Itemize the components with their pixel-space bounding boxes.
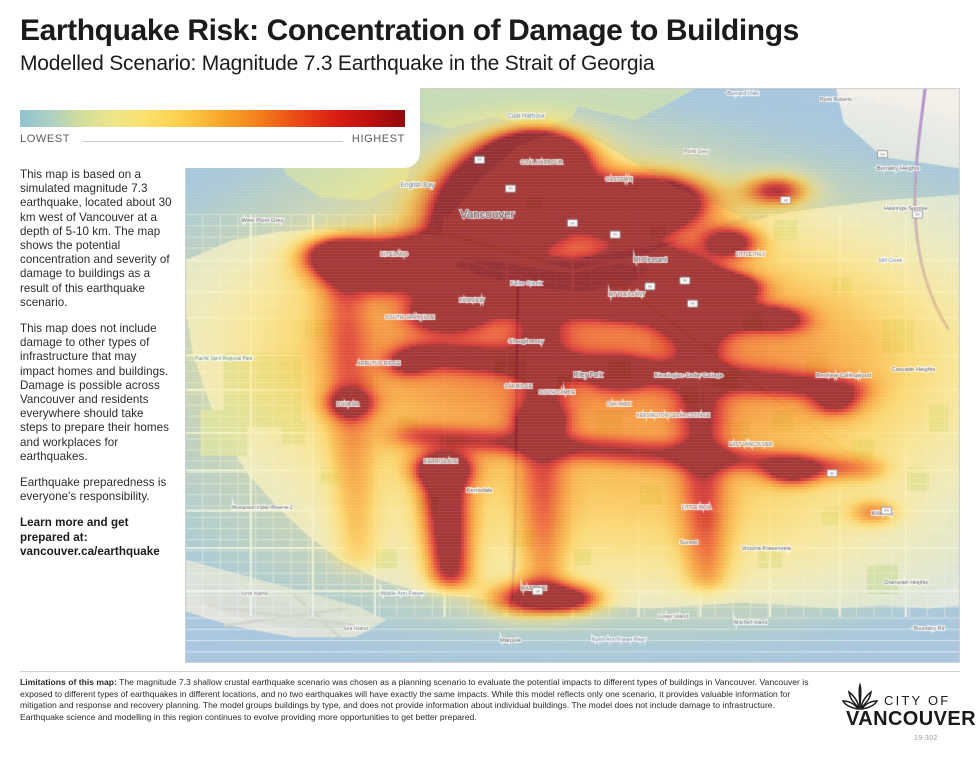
legend-highest-label: HIGHEST bbox=[352, 133, 405, 145]
footer-divider bbox=[20, 671, 960, 672]
limitations-body: The magnitude 7.3 shallow crustal earthq… bbox=[20, 677, 809, 722]
sidebar-text-block: This map is based on a simulated magnitu… bbox=[20, 168, 172, 571]
sidebar-paragraph: This map does not include damage to othe… bbox=[20, 322, 172, 464]
city-of-vancouver-logo: CITY OF VANCOUVER 19-302 bbox=[838, 680, 963, 740]
sidebar-panel: This map is based on a simulated magnitu… bbox=[0, 164, 185, 664]
page-title: Earthquake Risk: Concentration of Damage… bbox=[20, 14, 799, 48]
legend-labels: LOWEST HIGHEST bbox=[20, 133, 405, 149]
page-subtitle: Modelled Scenario: Magnitude 7.3 Earthqu… bbox=[20, 52, 654, 76]
sidebar-cta-link[interactable]: Learn more and get prepared at: vancouve… bbox=[20, 516, 172, 559]
limitations-note: Limitations of this map: The magnitude 7… bbox=[20, 677, 820, 723]
earthquake-risk-heatmap[interactable] bbox=[185, 88, 960, 663]
logo-document-code: 19-302 bbox=[914, 735, 938, 742]
logo-vancouver-text: VANCOUVER bbox=[846, 708, 976, 731]
legend-panel: LOWEST HIGHEST bbox=[0, 88, 420, 168]
legend-rule bbox=[83, 141, 343, 142]
sidebar-paragraph: Earthquake preparedness is everyone's re… bbox=[20, 476, 172, 504]
legend-lowest-label: LOWEST bbox=[20, 133, 70, 145]
risk-colorbar bbox=[20, 110, 405, 127]
map-canvas[interactable] bbox=[185, 88, 960, 663]
limitations-label: Limitations of this map: bbox=[20, 677, 117, 687]
logo-city-of-text: CITY OF bbox=[884, 693, 950, 708]
page-footer: Limitations of this map: The magnitude 7… bbox=[0, 663, 980, 757]
page-header: Earthquake Risk: Concentration of Damage… bbox=[0, 0, 980, 88]
sidebar-paragraph: This map is based on a simulated magnitu… bbox=[20, 168, 172, 310]
